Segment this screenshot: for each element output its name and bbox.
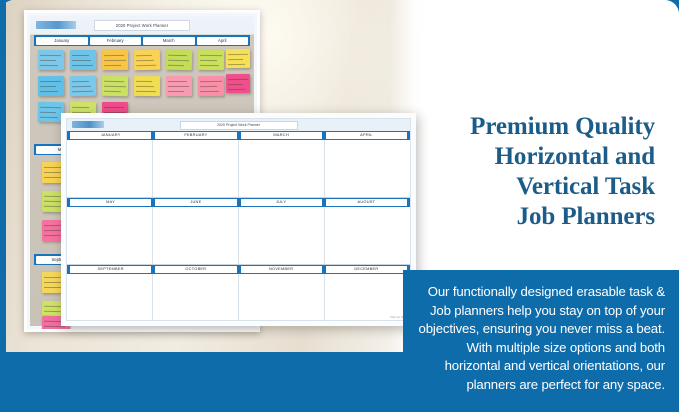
month-label-april: APRIL <box>326 132 407 138</box>
sticky-note-text-line <box>40 91 58 92</box>
month-label-september: SEPTEMBER <box>70 266 151 272</box>
month-cell <box>239 207 325 264</box>
sticky-note-text-line <box>72 91 93 92</box>
headline-line-1: Premium Quality <box>405 112 655 142</box>
month-cells-row-1 <box>67 140 410 198</box>
planner-title: 2020 Project Work Planner <box>180 121 298 130</box>
sticky-note-text-line <box>168 81 187 82</box>
sticky-note <box>38 76 64 96</box>
sticky-note-text-line <box>136 86 154 87</box>
headline-line-3: Vertical Task <box>405 172 655 202</box>
sticky-note-text-line <box>136 65 156 66</box>
month-cell <box>325 274 410 321</box>
background-planner-title: 2020 Project Work Planner <box>94 20 190 31</box>
month-cell <box>67 207 153 264</box>
sticky-note-text-line <box>136 55 152 56</box>
month-label-june: JUNE <box>155 199 236 205</box>
sticky-note-text-line <box>40 81 61 82</box>
sticky-note-text-line <box>168 86 189 87</box>
sticky-note-text-line <box>104 91 121 92</box>
month-label-february: FEBRUARY <box>155 132 236 138</box>
sticky-note-text-line <box>40 107 61 108</box>
planner-section-3: SEPTEMBER OCTOBER NOVEMBER DECEMBER <box>67 265 410 321</box>
month-label: April <box>197 37 249 45</box>
month-cell <box>239 274 325 321</box>
month-bar-row-2: MAY JUNE JULY AUGUST <box>67 198 410 207</box>
planner-section-1: JANUARY FEBRUARY MARCH APRIL <box>67 131 410 198</box>
month-label-march: MARCH <box>241 132 322 138</box>
sticky-note <box>166 76 192 96</box>
sticky-note <box>166 50 192 71</box>
month-cell <box>153 207 239 264</box>
description-panel: Our functionally designed erasable task … <box>403 270 679 412</box>
description-text: Our functionally designed erasable task … <box>417 283 665 395</box>
month-cell <box>325 140 410 197</box>
month-label-november: NOVEMBER <box>241 266 322 272</box>
sticky-note-text-line <box>136 60 154 61</box>
month-label-december: DECEMBER <box>326 266 407 272</box>
sticky-note <box>226 74 250 93</box>
sticky-note-text-line <box>44 331 67 332</box>
sticky-note <box>70 76 96 97</box>
brand-logo-icon <box>72 121 104 128</box>
sticky-note <box>134 50 160 71</box>
sticky-note-text-line <box>228 54 248 55</box>
month-label: March <box>143 37 195 45</box>
headline-line-2: Horizontal and <box>405 142 655 172</box>
sticky-note-text-line <box>200 60 217 61</box>
sticky-note-text-line <box>40 65 58 66</box>
sticky-note-text-line <box>136 81 152 82</box>
sticky-note-text-line <box>228 59 243 60</box>
sticky-note-text-line <box>40 60 56 61</box>
sticky-note-text-line <box>104 86 126 87</box>
month-bar-row-1: JANUARY FEBRUARY MARCH APRIL <box>67 131 410 140</box>
sticky-note-text-line <box>168 65 184 66</box>
month-cells-row-2 <box>67 207 410 265</box>
month-cell <box>325 207 410 264</box>
sticky-note <box>226 49 250 68</box>
sticky-note-text-line <box>200 81 222 82</box>
month-label-august: AUGUST <box>326 199 407 205</box>
month-label: January <box>36 37 88 45</box>
sticky-note <box>102 76 128 97</box>
month-cell <box>239 140 325 197</box>
sticky-note-text-line <box>168 55 187 56</box>
sticky-note-text-line <box>200 65 219 66</box>
month-label: February <box>90 37 142 45</box>
month-cell <box>67 140 153 197</box>
sticky-note-text-line <box>40 55 61 56</box>
sticky-note-text-line <box>228 64 245 65</box>
sticky-note-text-line <box>228 84 243 85</box>
sticky-note <box>38 50 64 70</box>
sticky-note-text-line <box>40 86 56 87</box>
sticky-note-text-line <box>72 60 91 61</box>
sticky-note-text-line <box>72 86 91 87</box>
sticky-note-text-line <box>228 89 245 90</box>
promo-poster: 2020 Project Work Planner January Februa… <box>0 0 679 412</box>
planner-section-2: MAY JUNE JULY AUGUST <box>67 198 410 265</box>
sticky-note <box>70 50 96 70</box>
month-label-july: JULY <box>241 199 322 205</box>
foreground-planner-product: 2020 Project Work Planner JANUARY FEBRUA… <box>61 113 416 326</box>
sticky-note-text-line <box>72 107 89 108</box>
sticky-note-text-line <box>104 60 126 61</box>
month-cell <box>153 274 239 321</box>
sticky-note <box>134 76 160 96</box>
headline: Premium Quality Horizontal and Vertical … <box>405 112 655 232</box>
sticky-note-text-line <box>104 55 124 56</box>
background-month-row-1: January February March April <box>34 35 250 46</box>
sticky-note <box>198 76 224 96</box>
sticky-note-text-line <box>72 81 89 82</box>
sticky-note-text-line <box>104 81 124 82</box>
foreground-planner-surface: 2020 Project Work Planner JANUARY FEBRUA… <box>66 118 411 321</box>
sticky-note-text-line <box>200 86 217 87</box>
sticky-note-text-line <box>104 107 124 108</box>
month-label-january: JANUARY <box>70 132 151 138</box>
month-cells-row-3 <box>67 274 410 321</box>
month-bar-row-3: SEPTEMBER OCTOBER NOVEMBER DECEMBER <box>67 265 410 274</box>
sticky-note-text-line <box>40 112 56 113</box>
sticky-note-text-line <box>228 79 248 80</box>
headline-line-4: Job Planners <box>405 202 655 232</box>
sticky-note <box>102 50 128 70</box>
sticky-note-text-line <box>136 91 156 92</box>
sticky-note-text-line <box>200 55 222 56</box>
sticky-note-text-line <box>72 65 93 66</box>
sticky-note-text-line <box>72 55 89 56</box>
sticky-note-text-line <box>104 65 121 66</box>
brand-logo-icon <box>36 21 76 29</box>
sticky-note-text-line <box>40 117 58 118</box>
sticky-note-text-line <box>168 60 189 61</box>
sticky-note <box>198 50 224 70</box>
month-cell <box>67 274 153 321</box>
sticky-note-text-line <box>200 91 219 92</box>
sticky-note-text-line <box>168 91 184 92</box>
month-label-october: OCTOBER <box>155 266 236 272</box>
planner-header-bar: 2020 Project Work Planner <box>67 119 410 131</box>
month-cell <box>153 140 239 197</box>
month-label-may: MAY <box>70 199 151 205</box>
